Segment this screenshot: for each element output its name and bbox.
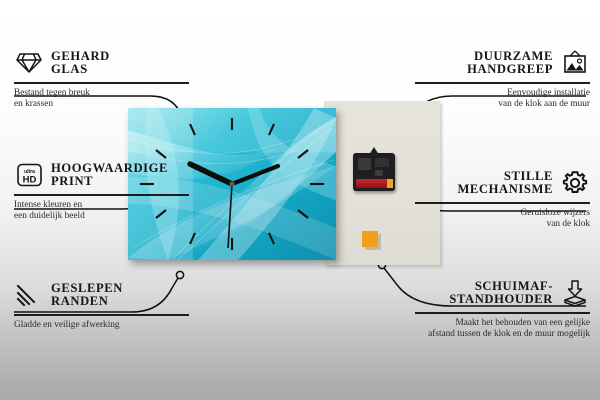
feature-heading: SCHUIMAF- STANDHOUDER [415,278,590,308]
feature-divider [14,314,189,316]
mechanism-detail [358,158,371,170]
gear-icon [560,168,590,198]
foam-spacer-pad [362,231,378,247]
feature-stille-mechanisme: STILLE MECHANISME Geruisloze wijzers van… [415,168,590,230]
feature-divider [415,312,590,314]
feature-heading: GEHARD GLAS [14,48,189,78]
diamond-icon [14,48,44,78]
feature-heading: GESLEPEN RANDEN [14,280,189,310]
feature-heading: DUURZAME HANDGREEP [415,48,590,78]
infographic-canvas: GEHARD GLAS Bestand tegen breuk en krass… [0,0,600,400]
connector-dot-geslepen-randen [176,271,183,278]
ultra-hd-icon: ultra HD [14,160,44,190]
clock-center-cap [229,181,234,186]
feature-description: Bestand tegen breuk en krassen [14,88,189,110]
feature-title: GESLEPEN RANDEN [51,282,123,309]
mechanism-battery [356,179,392,188]
feature-duurzame-handgreep: DUURZAME HANDGREEP Eenvoudige installati… [415,48,590,110]
feature-geslepen-randen: GESLEPEN RANDEN Gladde en veilige afwerk… [14,280,189,331]
clock-mechanism [353,153,395,191]
mechanism-detail [375,158,389,167]
feature-title: DUURZAME HANDGREEP [467,50,553,77]
clock-hour-hand [190,164,232,184]
feature-description: Intense kleuren en een duidelijk beeld [14,200,189,222]
battery-terminal [387,179,393,188]
picture-frame-icon [560,48,590,78]
feature-description: Gladde en veilige afwerking [14,320,189,331]
feature-title: HOOGWAARDIGE PRINT [51,162,168,189]
feature-gehard-glas: GEHARD GLAS Bestand tegen breuk en krass… [14,48,189,110]
feature-description: Maakt het behouden van een gelijke afsta… [415,318,590,340]
svg-text:HD: HD [22,175,36,186]
press-down-pad-icon [560,278,590,308]
feature-schuimaf-standhouder: SCHUIMAF- STANDHOUDER Maakt het behouden… [415,278,590,340]
feature-title: GEHARD GLAS [51,50,110,77]
feature-divider [415,82,590,84]
feature-heading: STILLE MECHANISME [415,168,590,198]
feature-title: STILLE MECHANISME [457,170,553,197]
feature-divider [14,194,189,196]
feature-title: SCHUIMAF- STANDHOUDER [449,280,553,307]
feature-heading: ultra HD HOOGWAARDIGE PRINT [14,160,189,190]
beveled-edges-icon [14,280,44,310]
feature-description: Geruisloze wijzers van de klok [415,208,590,230]
feature-divider [415,202,590,204]
feature-hoogwaardige-print: ultra HD HOOGWAARDIGE PRINT Intense kleu… [14,160,189,222]
feature-divider [14,82,189,84]
feature-description: Eenvoudige installatie van de klok aan d… [415,88,590,110]
clock-minute-hand [232,166,278,184]
mechanism-detail [375,170,383,176]
